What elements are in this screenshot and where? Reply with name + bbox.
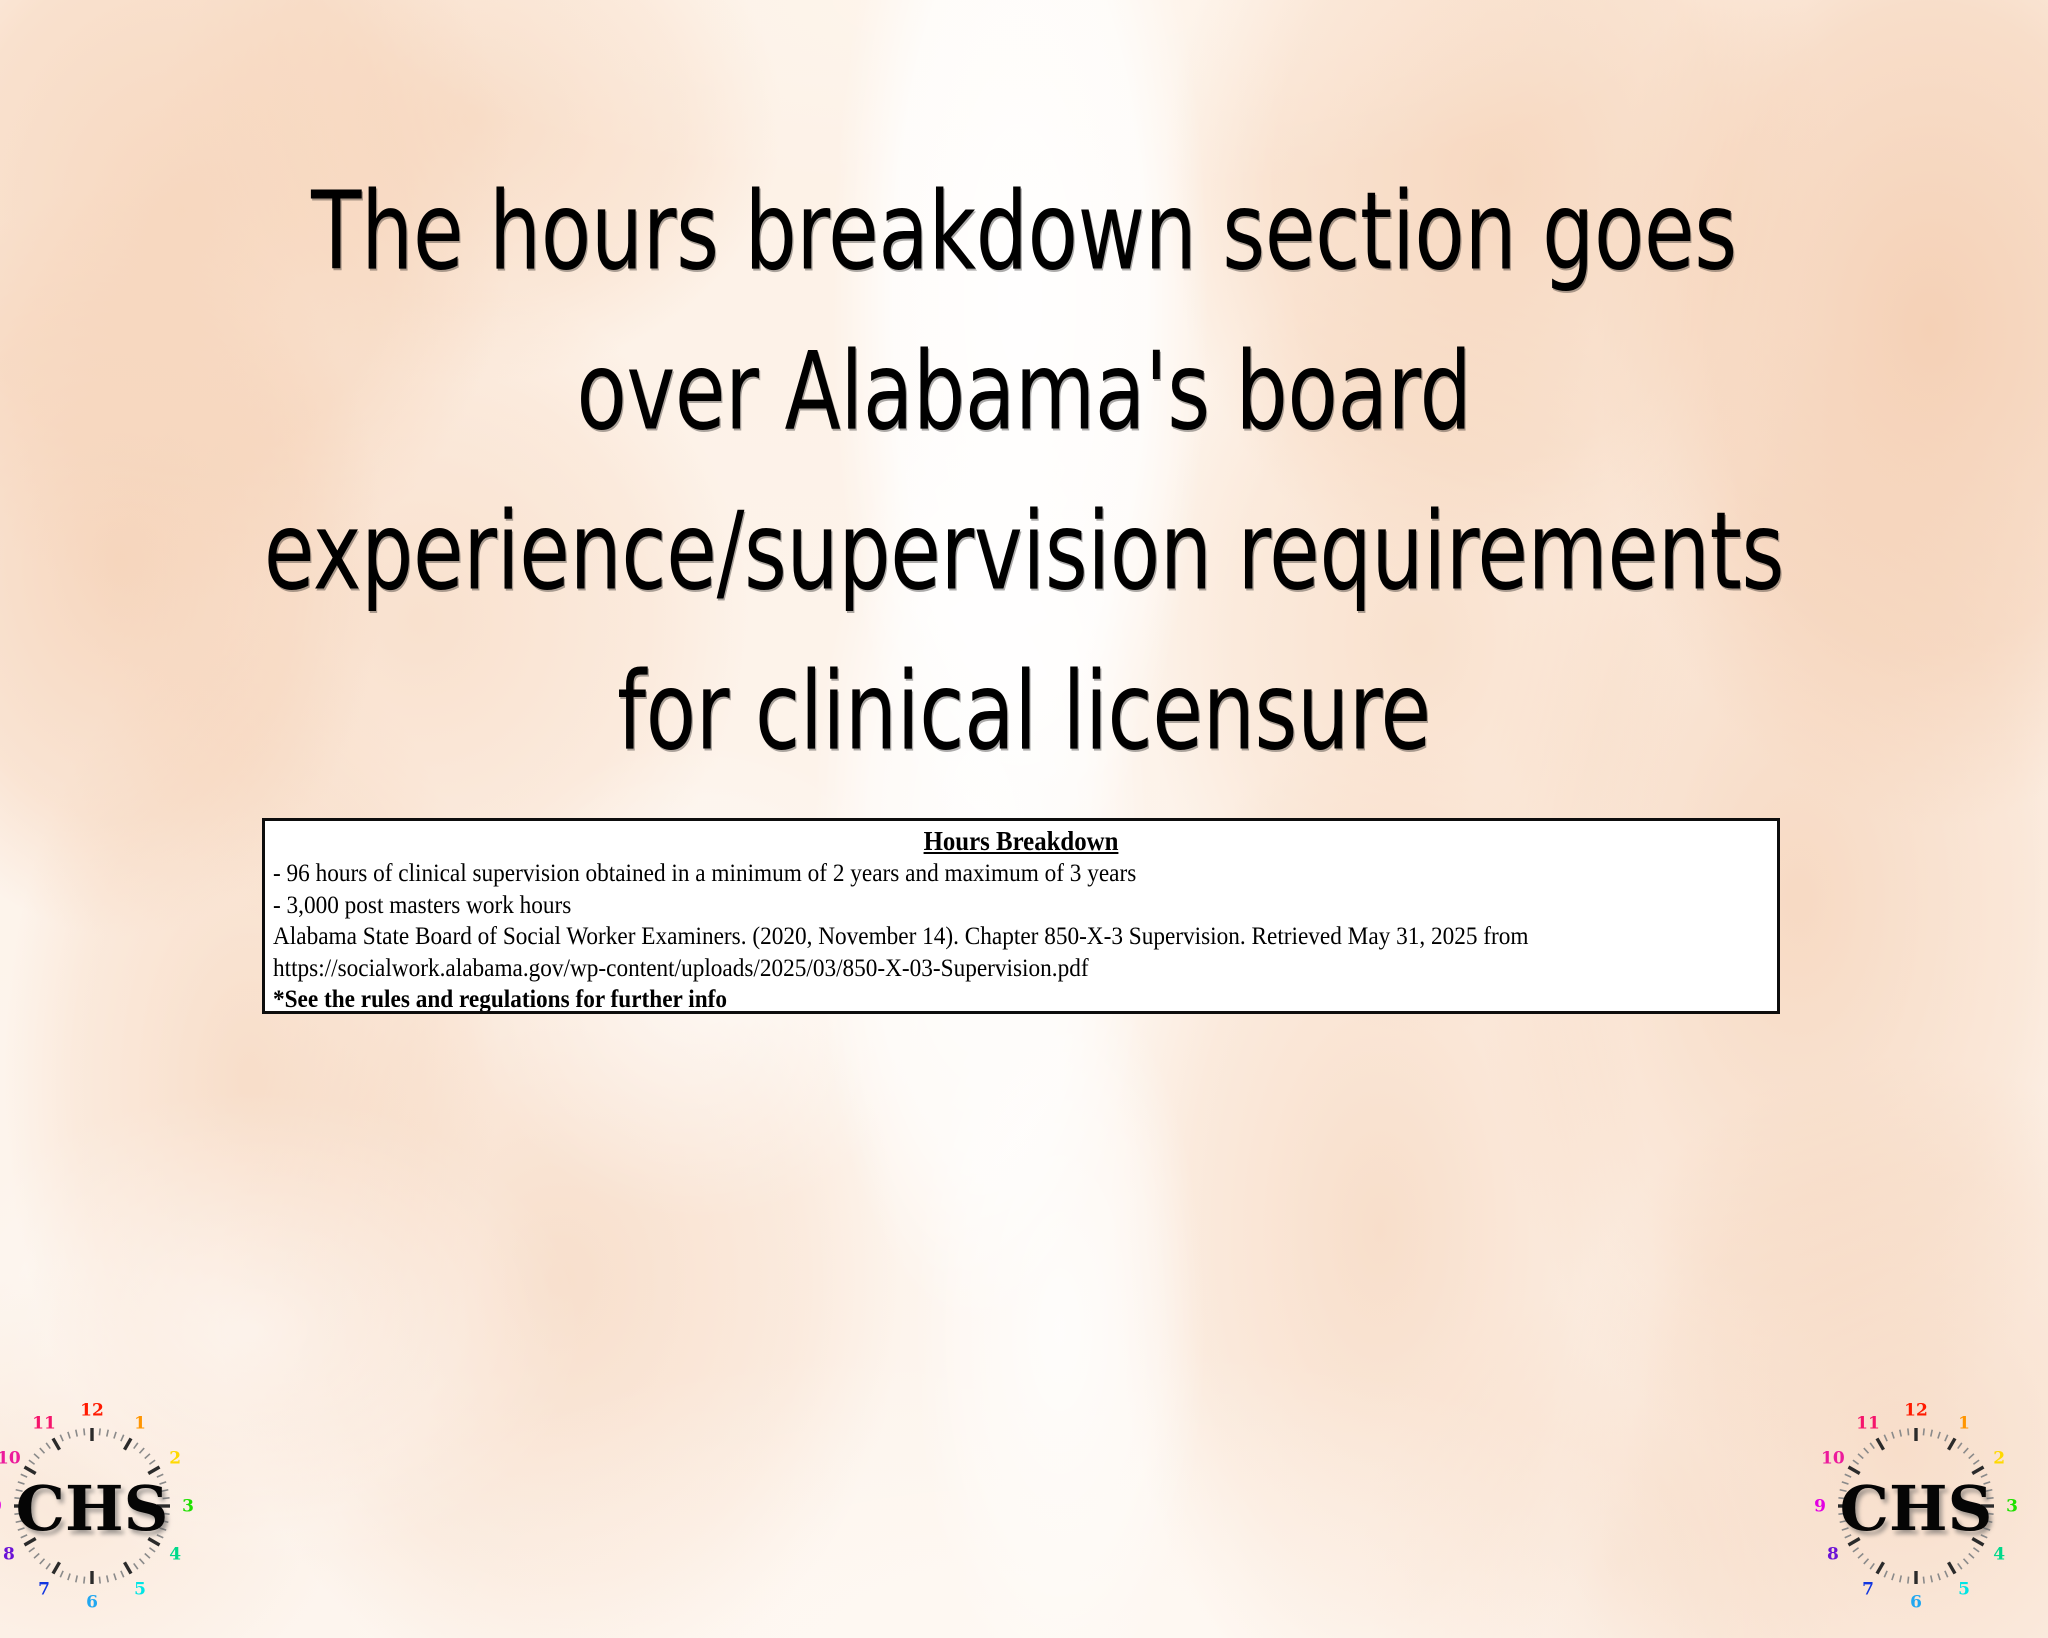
hours-breakdown-heading: Hours Breakdown xyxy=(333,825,1709,858)
clock-tick-minor xyxy=(84,1428,85,1435)
clock-tick-minor xyxy=(1884,1571,1887,1577)
clock-tick-minor xyxy=(99,1428,100,1435)
clock-tick-minor xyxy=(40,1448,45,1453)
clock-hour-6: 6 xyxy=(86,1593,98,1613)
clock-tick-minor xyxy=(29,1548,35,1552)
clock-icon: 121234567891011 CHS xyxy=(0,1396,202,1616)
clock-tick-minor xyxy=(149,1548,155,1552)
clock-tick-minor xyxy=(46,1443,50,1449)
clock-tick-minor xyxy=(99,1577,100,1584)
clock-tick-minor xyxy=(1908,1428,1909,1435)
clock-hour-4: 4 xyxy=(169,1545,181,1565)
hours-line-supervision: - 96 hours of clinical supervision obtai… xyxy=(273,858,1664,890)
clock-tick-minor xyxy=(68,1432,70,1439)
clock-tick-minor xyxy=(134,1563,138,1569)
clock-tick-minor xyxy=(84,1577,85,1584)
clock-tick-minor xyxy=(1945,1435,1948,1441)
clock-tick-minor xyxy=(29,1460,35,1464)
clock-tick-minor xyxy=(1858,1554,1863,1559)
clock-hour-4: 4 xyxy=(1993,1545,2005,1565)
clock-tick-minor xyxy=(145,1554,150,1559)
clock-hour-1: 1 xyxy=(1958,1413,1970,1433)
clock-tick-minor xyxy=(60,1435,63,1441)
clock-hour-2: 2 xyxy=(169,1449,181,1469)
hours-breakdown-box: Hours Breakdown - 96 hours of clinical s… xyxy=(262,818,1780,1014)
clock-tick-minor xyxy=(1900,1575,1901,1582)
clock-tick-minor xyxy=(1908,1577,1909,1584)
clock-tick-minor xyxy=(1900,1430,1901,1437)
clock-tick-minor xyxy=(46,1563,50,1569)
clock-tick-major xyxy=(1877,1438,1884,1449)
clock-tick-minor xyxy=(1973,1548,1979,1552)
hours-line-work-hours: - 3,000 post masters work hours xyxy=(273,890,1664,922)
clock-hour-5: 5 xyxy=(134,1580,146,1600)
clock-hour-10: 10 xyxy=(0,1449,21,1469)
clock-tick-minor xyxy=(1923,1577,1924,1584)
title-line-3: experience/supervision requirements xyxy=(205,468,1843,636)
hours-line-source-url: https://socialwork.alabama.gov/wp-conten… xyxy=(273,953,1664,985)
clock-tick-minor xyxy=(134,1443,138,1449)
clock-icon: 121234567891011 CHS xyxy=(1806,1396,2026,1616)
clock-tick-minor xyxy=(1945,1571,1948,1577)
clock-tick-minor xyxy=(140,1559,145,1564)
slide-canvas: The hours breakdown section goes over Al… xyxy=(0,0,2048,1638)
clock-tick-minor xyxy=(149,1460,155,1464)
clock-tick-minor xyxy=(1958,1563,1962,1569)
clock-tick-major xyxy=(1949,1438,1956,1449)
chs-logo-bottom-left: 121234567891011 CHS xyxy=(0,1396,202,1616)
clock-tick-minor xyxy=(140,1448,145,1453)
title-line-4: for clinical licensure xyxy=(205,628,1843,796)
clock-tick-major xyxy=(125,1438,132,1449)
clock-tick-minor xyxy=(1964,1559,1969,1564)
clock-hour-12: 12 xyxy=(1904,1401,1928,1421)
clock-tick-major xyxy=(53,1562,60,1573)
clock-hour-5: 5 xyxy=(1958,1580,1970,1600)
clock-tick-major xyxy=(1877,1562,1884,1573)
clock-tick-minor xyxy=(114,1574,116,1581)
clock-tick-minor xyxy=(1931,1430,1932,1437)
clock-tick-minor xyxy=(60,1571,63,1577)
clock-tick-minor xyxy=(1864,1448,1869,1453)
title-line-1: The hours breakdown section goes xyxy=(205,148,1843,316)
chs-wordmark: CHS xyxy=(16,1472,169,1545)
clock-tick-minor xyxy=(68,1574,70,1581)
clock-hour-8: 8 xyxy=(1827,1545,1839,1565)
clock-hour-6: 6 xyxy=(1910,1593,1922,1613)
clock-tick-minor xyxy=(1964,1448,1969,1453)
hours-line-citation: Alabama State Board of Social Worker Exa… xyxy=(273,921,1664,953)
hours-line-footnote: *See the rules and regulations for furth… xyxy=(273,984,1664,1014)
clock-tick-major xyxy=(125,1562,132,1573)
clock-hour-12: 12 xyxy=(80,1401,104,1421)
clock-tick-minor xyxy=(34,1454,39,1459)
clock-tick-minor xyxy=(1958,1443,1962,1449)
clock-tick-minor xyxy=(34,1554,39,1559)
clock-tick-minor xyxy=(1892,1432,1894,1439)
clock-tick-minor xyxy=(1931,1575,1932,1582)
clock-tick-minor xyxy=(121,1435,124,1441)
clock-hour-9: 9 xyxy=(1814,1497,1826,1517)
clock-tick-minor xyxy=(1923,1428,1924,1435)
clock-tick-minor xyxy=(1884,1435,1887,1441)
clock-tick-minor xyxy=(1969,1554,1974,1559)
clock-tick-minor xyxy=(107,1575,108,1582)
clock-hour-7: 7 xyxy=(38,1580,50,1600)
clock-tick-minor xyxy=(1858,1454,1863,1459)
clock-tick-minor xyxy=(1853,1460,1859,1464)
clock-tick-minor xyxy=(145,1454,150,1459)
clock-hour-9: 9 xyxy=(0,1497,2,1517)
clock-tick-minor xyxy=(1892,1574,1894,1581)
clock-tick-minor xyxy=(76,1575,77,1582)
clock-tick-minor xyxy=(1973,1460,1979,1464)
clock-hour-11: 11 xyxy=(1856,1413,1880,1433)
clock-tick-minor xyxy=(1870,1443,1874,1449)
page-title: The hours breakdown section goes over Al… xyxy=(0,152,2048,792)
clock-tick-minor xyxy=(114,1432,116,1439)
clock-tick-minor xyxy=(76,1430,77,1437)
clock-tick-minor xyxy=(40,1559,45,1564)
clock-tick-major xyxy=(53,1438,60,1449)
title-line-2: over Alabama's board xyxy=(205,308,1843,476)
clock-hour-3: 3 xyxy=(182,1497,194,1517)
clock-tick-minor xyxy=(1870,1563,1874,1569)
clock-tick-minor xyxy=(121,1571,124,1577)
clock-tick-minor xyxy=(1938,1574,1940,1581)
clock-hour-3: 3 xyxy=(2006,1497,2018,1517)
clock-hour-7: 7 xyxy=(1862,1580,1874,1600)
chs-wordmark: CHS xyxy=(1840,1472,1993,1545)
clock-tick-minor xyxy=(1969,1454,1974,1459)
clock-tick-minor xyxy=(1938,1432,1940,1439)
clock-tick-minor xyxy=(107,1430,108,1437)
clock-hour-2: 2 xyxy=(1993,1449,2005,1469)
clock-hour-10: 10 xyxy=(1821,1449,1845,1469)
clock-tick-minor xyxy=(1864,1559,1869,1564)
chs-logo-bottom-right: 121234567891011 CHS xyxy=(1806,1396,2026,1616)
clock-hour-1: 1 xyxy=(134,1413,146,1433)
clock-tick-minor xyxy=(1853,1548,1859,1552)
clock-hour-11: 11 xyxy=(32,1413,56,1433)
clock-hour-8: 8 xyxy=(3,1545,15,1565)
clock-tick-major xyxy=(1949,1562,1956,1573)
